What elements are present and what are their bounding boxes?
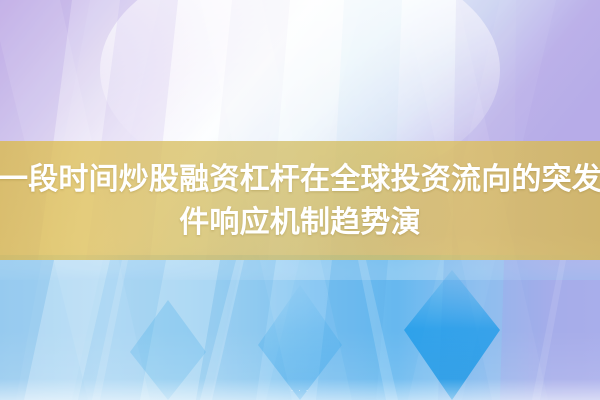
headline-block: 近一段时间炒股融资杠杆在全球投资流向的突发事 件响应机制趋势演 <box>0 141 600 260</box>
headline-line-2: 件响应机制趋势演 <box>179 203 421 242</box>
article-banner: 近一段时间炒股融资杠杆在全球投资流向的突发事 件响应机制趋势演 · · · <box>0 0 600 400</box>
watermark: · · · <box>0 384 600 396</box>
headline-line-1: 近一段时间炒股融资杠杆在全球投资流向的突发事 <box>0 160 600 199</box>
